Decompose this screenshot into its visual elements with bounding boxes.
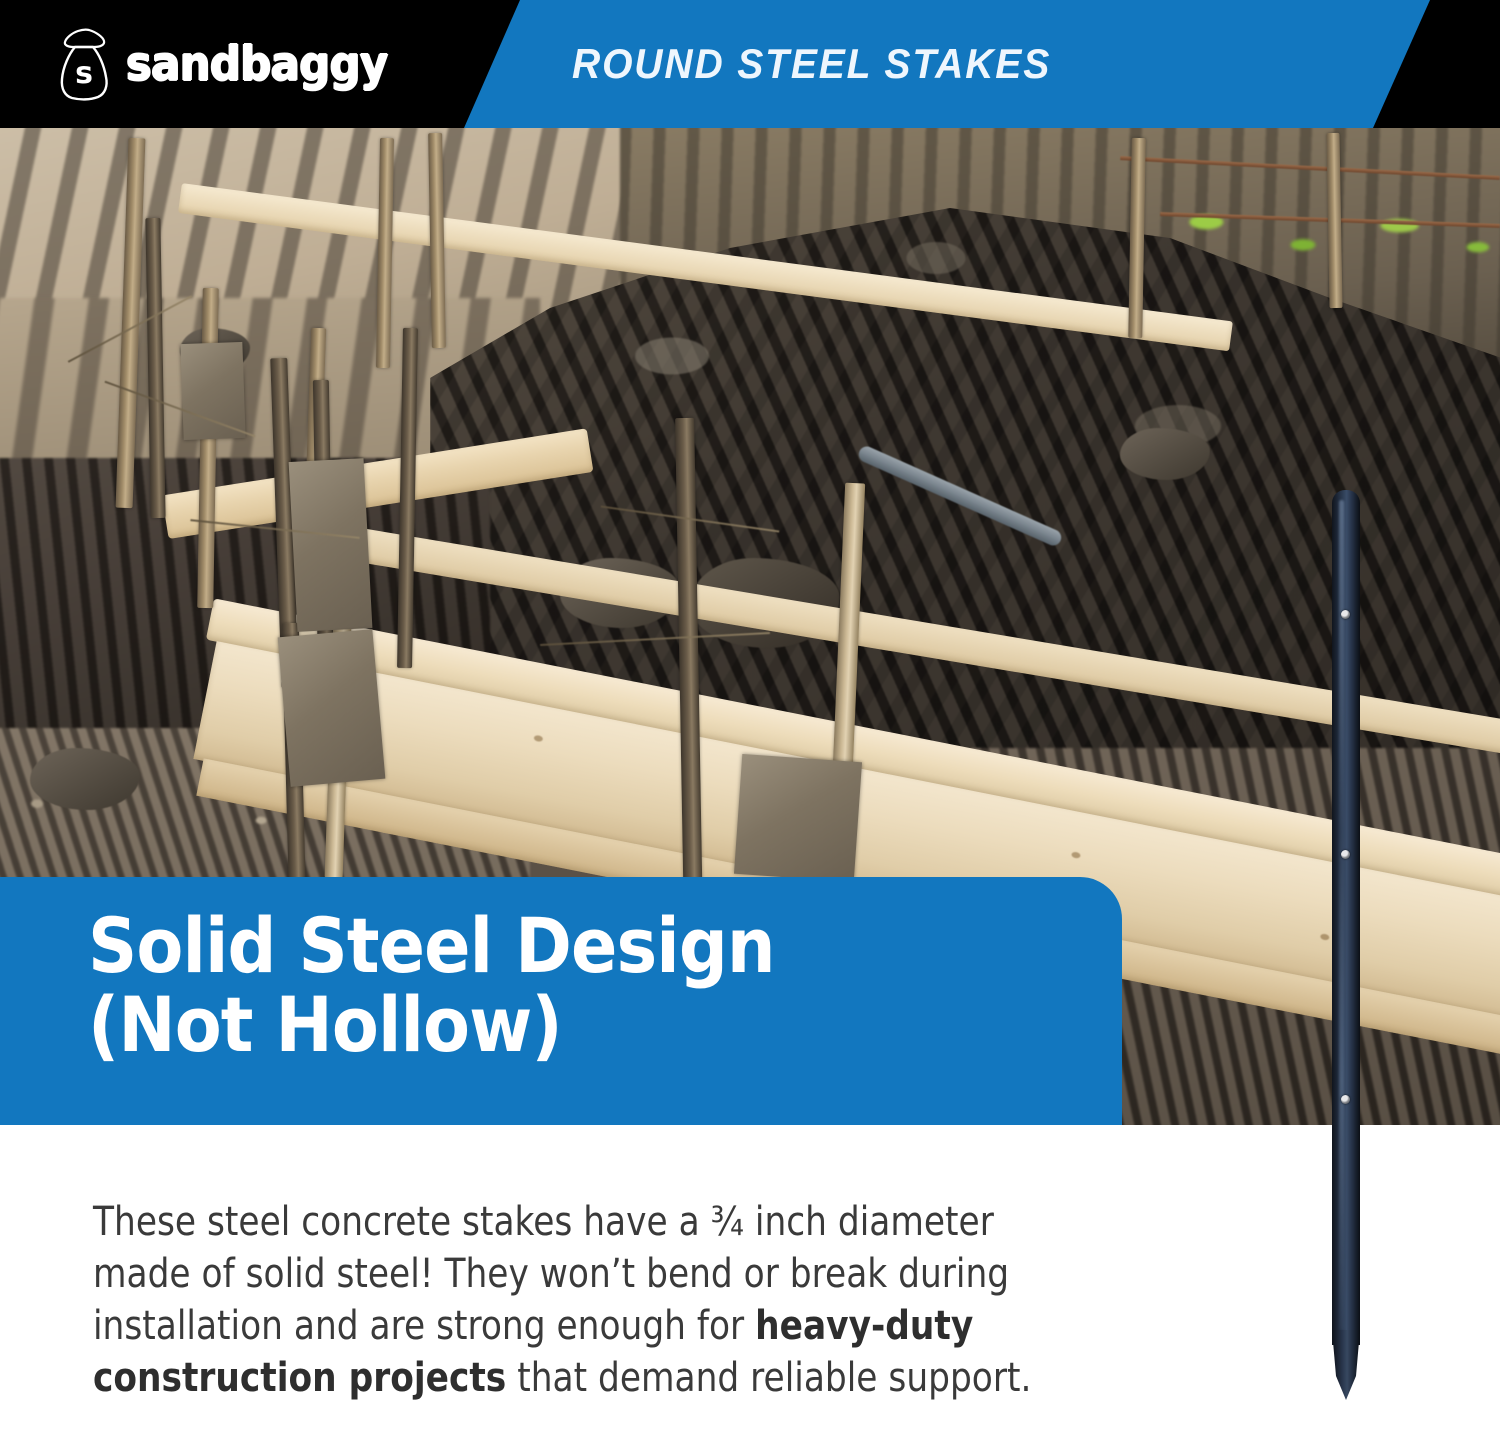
sandbag-icon: s	[56, 27, 112, 101]
header-title: ROUND STEEL STAKES	[572, 0, 1087, 128]
page-title: Solid Steel Design (Not Hollow)	[88, 906, 775, 1064]
svg-text:s: s	[75, 56, 93, 91]
brace-plate	[278, 629, 386, 787]
brace-plate	[734, 754, 862, 882]
round-steel-stake-product	[1332, 490, 1360, 1400]
brand-logo[interactable]: s sandbaggy	[56, 26, 382, 102]
header-bar: s sandbaggy ROUND STEEL STAKES	[0, 0, 1500, 128]
steel-stake-hole	[1341, 850, 1350, 859]
brace-plate	[289, 458, 373, 632]
brand-name: sandbaggy	[126, 41, 388, 88]
description-part-2: that demand reliable support.	[506, 1355, 1031, 1401]
steel-stake-hole	[1341, 610, 1350, 619]
header-title-text: ROUND STEEL STAKES	[572, 40, 1051, 88]
description-text: These steel concrete stakes have a ¾ inc…	[93, 1196, 1048, 1404]
steel-stake-tip	[1332, 1330, 1360, 1400]
brace-plate	[180, 342, 245, 440]
steel-stake-highlight	[1339, 500, 1344, 1330]
infographic-page: s sandbaggy ROUND STEEL STAKES	[0, 0, 1500, 1441]
steel-stake-hole	[1341, 1095, 1350, 1104]
